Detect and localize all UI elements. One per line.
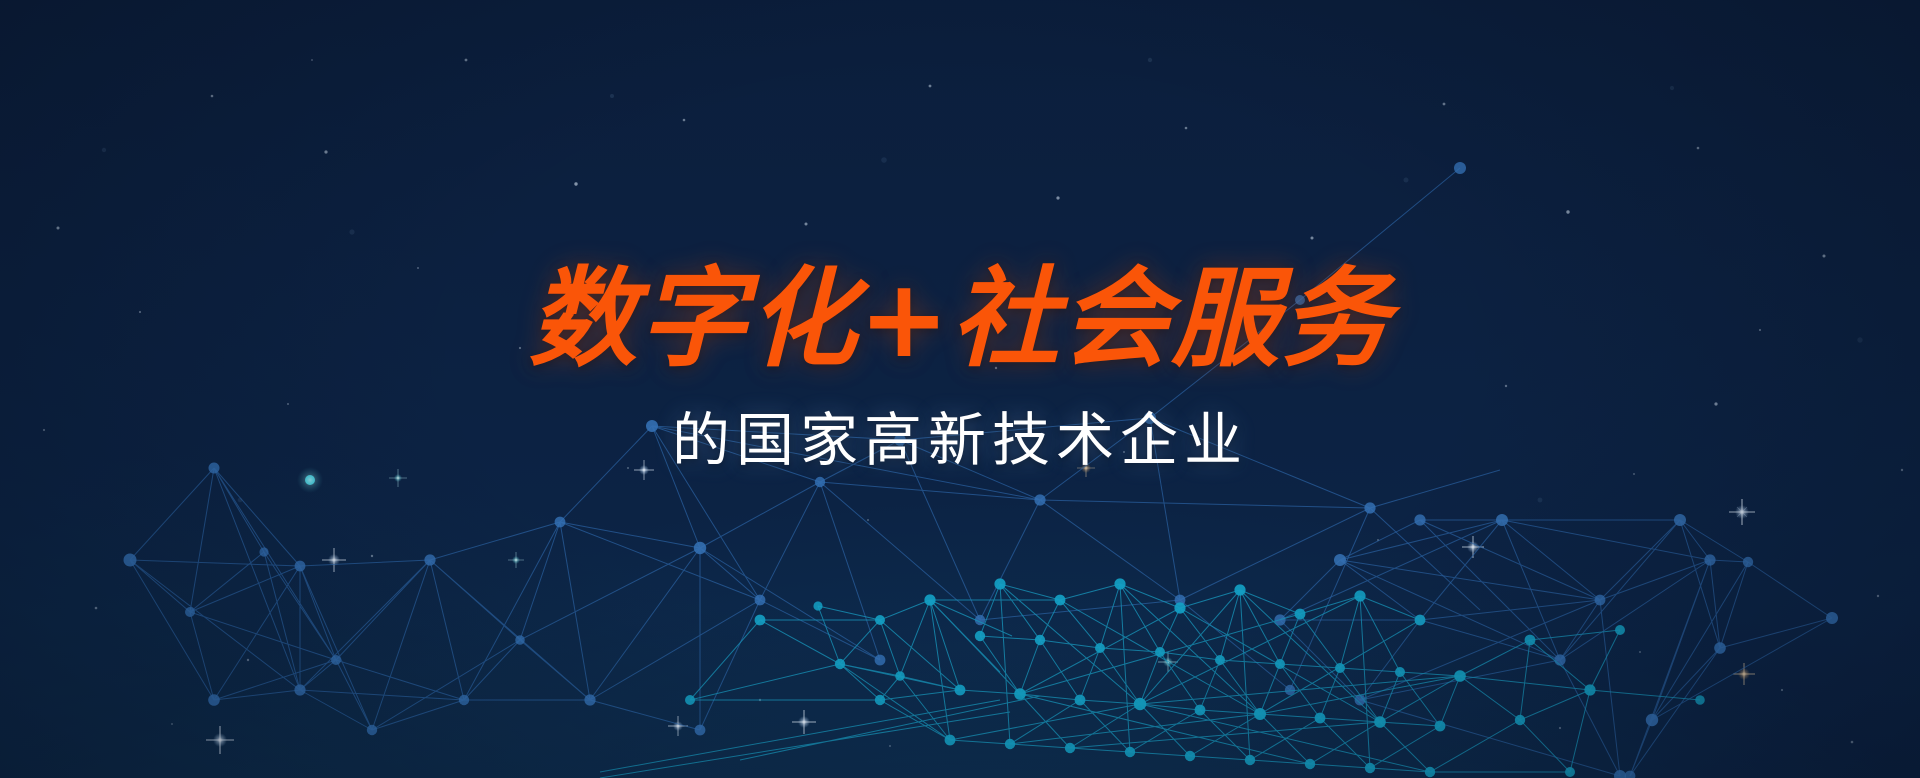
network-links-center: [600, 584, 1700, 778]
page-subtitle: 的国家高新技术企业: [0, 406, 1920, 476]
page-title: 数字化+社会服务: [0, 262, 1920, 379]
hero-banner: 数字化+社会服务 的国家高新技术企业: [0, 0, 1920, 778]
network-center-mesh: [0, 0, 1920, 778]
network-nodes-center: [685, 578, 1705, 777]
